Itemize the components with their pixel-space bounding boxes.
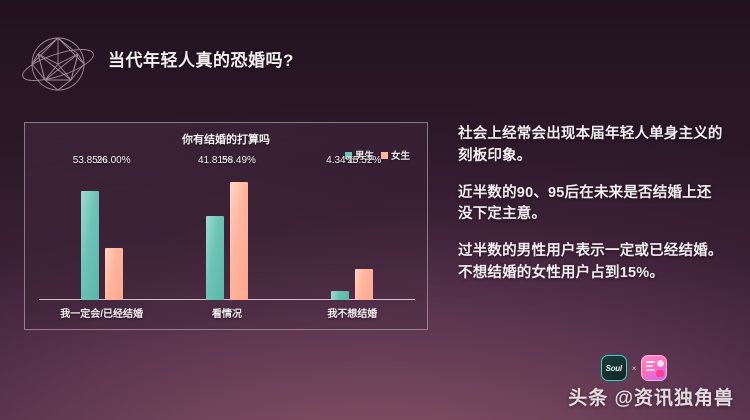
soul-icon-label: Soul — [606, 364, 622, 373]
plot-area: 53.85%26.00%41.81%58.49%4.34%15.52% — [39, 169, 415, 300]
bar: 4.34% — [331, 291, 349, 300]
insight-paragraph: 过半数的男性用户表示一定或已经结婚。不想结婚的女性用户占到15%。 — [458, 241, 726, 285]
bar-female: 15.52% — [355, 169, 373, 300]
watermark-text: 头条 @资讯独角兽 — [568, 383, 734, 410]
bar-group: 53.85%26.00% — [39, 169, 164, 300]
chart-title: 你有结婚的打算吗 — [25, 131, 427, 147]
x-axis-label: 看情况 — [164, 305, 289, 320]
soul-app-icon: Soul — [601, 355, 627, 381]
bar: 26.00% — [105, 248, 123, 300]
bar-male: 4.34% — [331, 169, 349, 300]
app-icon-row: Soul × — [568, 355, 734, 381]
bar: 58.49% — [230, 182, 248, 300]
x-axis-labels: 我一定会/已经结婚看情况我不想结婚 — [39, 305, 415, 325]
legend-swatch-female — [381, 152, 388, 159]
chart-panel: 你有结婚的打算吗 男生 女生 53.85%26.00%41.81%58.49%4… — [24, 122, 428, 330]
bar-group: 41.81%58.49% — [164, 169, 289, 300]
legend-item-female: 女生 — [381, 148, 410, 162]
bar-male: 41.81% — [206, 169, 224, 300]
bar-value-label: 15.52% — [347, 155, 381, 166]
x-axis-label: 我不想结婚 — [290, 305, 415, 320]
bar-value-label: 26.00% — [97, 155, 131, 166]
bar-female: 26.00% — [105, 169, 123, 300]
insight-paragraph: 近半数的90、95后在未来是否结婚上还没下定主意。 — [458, 183, 726, 227]
bar-female: 58.49% — [230, 169, 248, 300]
legend-label-female: 女生 — [391, 148, 410, 162]
bar: 53.85% — [81, 191, 99, 300]
bar-value-label: 58.49% — [222, 155, 256, 166]
page-title: 当代年轻人真的恐婚吗? — [108, 46, 294, 71]
icon-separator-x: × — [632, 364, 637, 373]
bar-group: 4.34%15.52% — [290, 169, 415, 300]
insights-panel: 社会上经常会出现本届年轻人单身主义的刻板印象。近半数的90、95后在未来是否结婚… — [458, 124, 726, 285]
bar: 41.81% — [206, 216, 224, 300]
bar: 15.52% — [355, 269, 373, 300]
x-axis-label: 我一定会/已经结婚 — [39, 305, 164, 320]
bar-male: 53.85% — [81, 169, 99, 300]
header: 当代年轻人真的恐婚吗? — [0, 0, 750, 108]
footer-brand: Soul × 头条 @资讯独角兽 — [568, 355, 734, 410]
insight-paragraph: 社会上经常会出现本届年轻人单身主义的刻板印象。 — [458, 124, 726, 168]
wireframe-globe-icon — [16, 24, 100, 104]
partner-app-icon — [641, 355, 667, 381]
